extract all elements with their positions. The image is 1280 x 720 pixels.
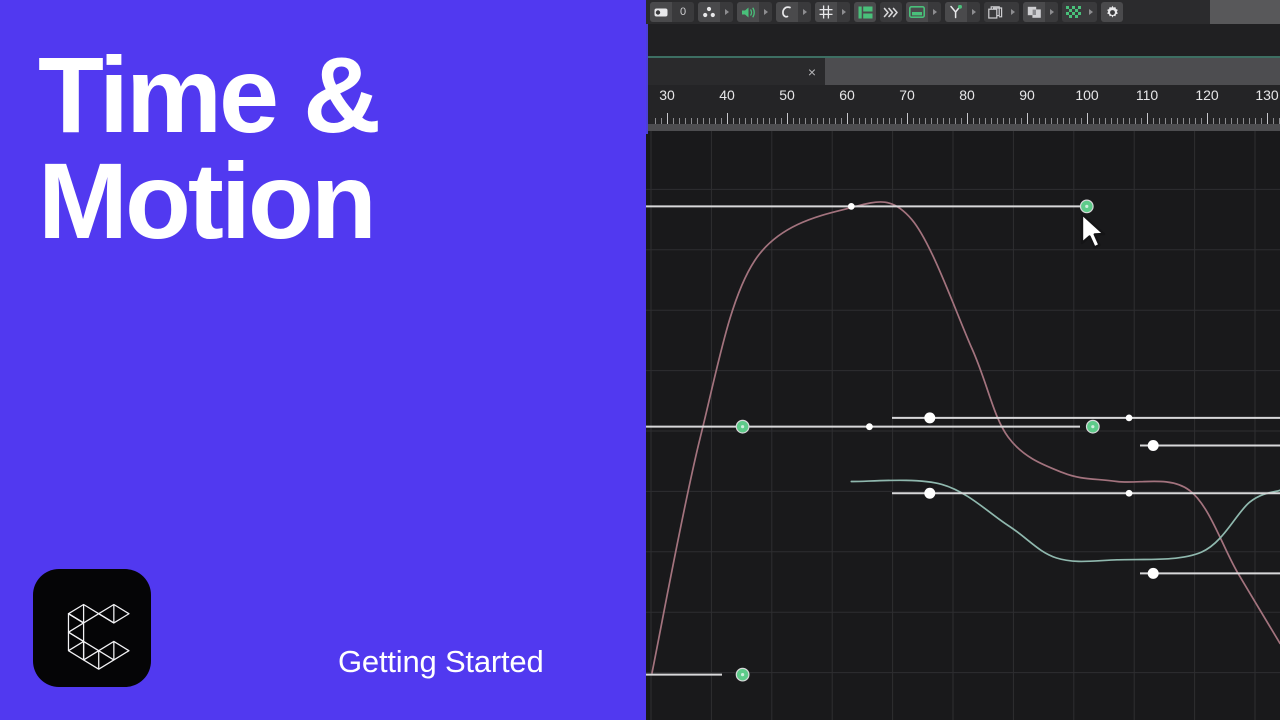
points-icon [702, 6, 716, 18]
toolbar-group-points [698, 2, 733, 22]
tangent-icon [949, 5, 963, 19]
toolbar-underbar [646, 24, 1280, 57]
toolbar: 0 [646, 0, 1280, 24]
frame-dropdown-arrow-icon[interactable] [928, 2, 941, 22]
gear-icon-button[interactable] [1101, 2, 1123, 22]
ruler-label: 70 [899, 87, 915, 103]
cover-subtitle: Getting Started [338, 644, 544, 680]
toolbar-group-frame [906, 2, 941, 22]
keyframe-center [741, 673, 744, 676]
tab-timeline[interactable]: × [646, 58, 825, 85]
dither-pattern-icon-button[interactable] [1062, 2, 1084, 22]
keyframe-center [1085, 205, 1088, 208]
keyframe-kf-row-b-left[interactable] [924, 488, 935, 499]
ruler-major-tick [1267, 113, 1268, 124]
screenshot-stage: Time & Motion [0, 0, 1280, 720]
toolbar-group-layers [984, 2, 1019, 22]
dither-dropdown-arrow-icon[interactable] [1084, 2, 1097, 22]
ruler-major-tick [1147, 113, 1148, 124]
track-layout-icon [858, 6, 873, 19]
capsule-toggle-icon [654, 8, 668, 17]
ruler-major-tick [1087, 113, 1088, 124]
c-mesh-logo-icon [50, 586, 134, 670]
tangent-icon-button[interactable] [945, 2, 967, 22]
gear-icon [1105, 5, 1120, 20]
ruler-major-tick [907, 113, 908, 124]
copy-shape-icon-button[interactable] [1023, 2, 1045, 22]
ruler-label: 30 [659, 87, 675, 103]
toolbar-group-snap [815, 2, 850, 22]
track-layout-icon-button[interactable] [854, 2, 876, 22]
frame-value-field[interactable]: 0 [672, 2, 694, 22]
toolbar-group-curve [776, 2, 811, 22]
points-dropdown-arrow-icon[interactable] [720, 2, 733, 22]
speaker-icon-button[interactable] [737, 2, 759, 22]
tab-bar: × [646, 58, 1280, 85]
ruler-label: 50 [779, 87, 795, 103]
cover-panel: Time & Motion [0, 0, 646, 720]
toolbar-group-copy [1023, 2, 1058, 22]
toolbar-group-tracks [854, 2, 876, 22]
ruler-label: 120 [1195, 87, 1218, 103]
keyframe-kf-mid-small[interactable] [866, 423, 873, 430]
toolbar-group-record: 0 [650, 2, 694, 22]
ruler-major-tick [967, 113, 968, 124]
fast-forward-icon [883, 7, 899, 18]
toolbar-group-settings [1101, 2, 1123, 22]
ruler-major-tick [787, 113, 788, 124]
ruler-label: 90 [1019, 87, 1035, 103]
ruler-label: 80 [959, 87, 975, 103]
capsule-toggle-icon-button[interactable] [650, 2, 672, 22]
toolbar-buttons: 0 [646, 1, 1127, 23]
page-title: Time & Motion [38, 42, 638, 254]
ruler-major-tick [1027, 113, 1028, 124]
copy-shape-icon [1027, 6, 1042, 19]
ruler-label: 100 [1075, 87, 1098, 103]
ruler-label: 40 [719, 87, 735, 103]
layers-icon-button[interactable] [984, 2, 1006, 22]
curve-icon-button[interactable] [776, 2, 798, 22]
ruler-major-tick [667, 113, 668, 124]
ruler-label-row: 30405060708090100110120130 [646, 85, 1280, 111]
toolbar-overflow-panel [1210, 0, 1280, 24]
copy-dropdown-arrow-icon[interactable] [1045, 2, 1058, 22]
keyframe-center [1091, 425, 1094, 428]
ruler-major-tick [1207, 113, 1208, 124]
speaker-icon [741, 6, 756, 19]
curve-svg [646, 131, 1280, 720]
graph-editor-panel: 0 [646, 0, 1280, 720]
points-icon-button[interactable] [698, 2, 720, 22]
keyframe-center [741, 425, 744, 428]
grid-snap-icon [819, 5, 833, 19]
layers-icon [988, 6, 1003, 19]
tangent-dropdown-arrow-icon[interactable] [967, 2, 980, 22]
keyframe-kf-row-b-right[interactable] [1126, 490, 1133, 497]
audio-dropdown-arrow-icon[interactable] [759, 2, 772, 22]
curve-icon [780, 5, 794, 19]
toolbar-group-dither [1062, 2, 1097, 22]
ruler-major-tick [847, 113, 848, 124]
brand-logo [33, 569, 151, 687]
toolbar-group-audio [737, 2, 772, 22]
ruler-footer-bar [646, 124, 1280, 131]
ruler-label: 110 [1136, 87, 1158, 103]
frame-region-icon-button[interactable] [906, 2, 928, 22]
keyframe-kf-row-a-right[interactable] [1126, 414, 1133, 421]
curve-rose-curve [652, 202, 1280, 673]
toolbar-group-tangent [945, 2, 980, 22]
ruler-major-tick [727, 113, 728, 124]
ruler-label: 130 [1255, 87, 1278, 103]
fast-forward-icon-button[interactable] [880, 2, 902, 22]
layers-dropdown-arrow-icon[interactable] [1006, 2, 1019, 22]
keyframe-kf-row-d[interactable] [1148, 568, 1159, 579]
keyframe-kf-top-left[interactable] [848, 203, 855, 210]
curve-dropdown-arrow-icon[interactable] [798, 2, 811, 22]
frame-region-icon [909, 6, 925, 18]
dither-pattern-icon [1066, 6, 1081, 19]
grid-snap-icon-button[interactable] [815, 2, 837, 22]
ruler-label: 60 [839, 87, 855, 103]
frame-ruler[interactable]: 30405060708090100110120130 [646, 85, 1280, 131]
keyframe-kf-row-a-left[interactable] [924, 412, 935, 423]
curve-canvas[interactable] [646, 131, 1280, 720]
close-icon[interactable]: × [808, 65, 816, 79]
panel-left-edge-highlight [646, 24, 648, 134]
ruler-tick-row [646, 111, 1280, 124]
keyframe-kf-row-c[interactable] [1148, 440, 1159, 451]
snap-dropdown-arrow-icon[interactable] [837, 2, 850, 22]
toolbar-group-ff [880, 2, 902, 22]
